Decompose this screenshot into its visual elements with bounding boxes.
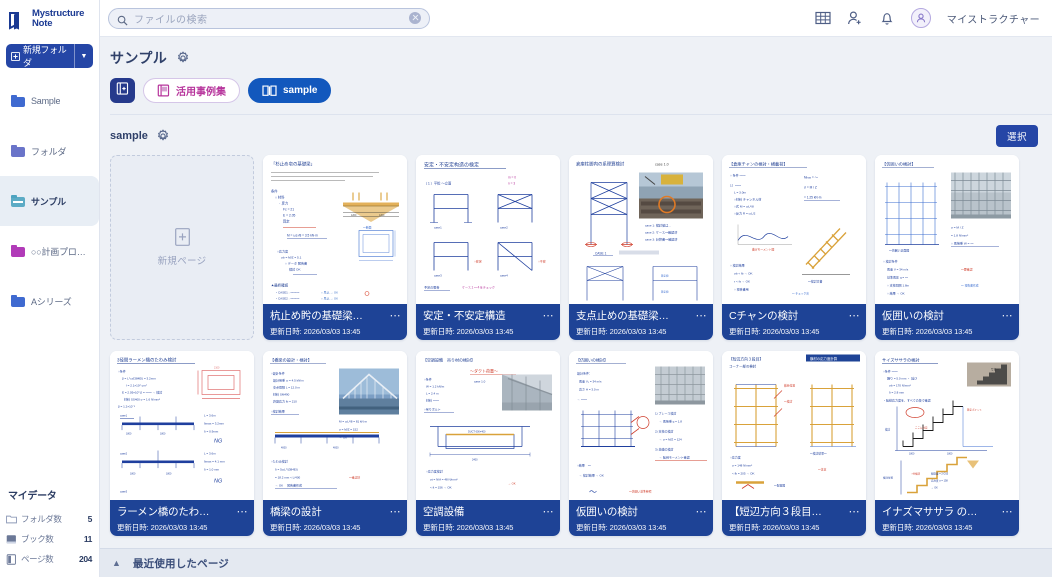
svg-text:case 1: 検討値は…: case 1: 検討値は… [645,223,671,228]
page-card-date: 更新日時: 2026/03/03 13:45 [270,326,401,337]
svg-text:【仿囲いの検討】: 【仿囲いの検討】 [576,357,608,363]
svg-text:3径間ラーメン橋のたわみ検討: 3径間ラーメン橋のたわみ検討 [117,357,177,364]
page-thumbnail: 【仿囲いの検討】 [569,351,713,500]
more-options-icon[interactable]: ⋯ [543,309,555,322]
my-data-value: 204 [79,554,94,564]
page-card[interactable]: 3径間ラーメン橋のたわみ検討 ○条件 β = L⁴ω/(384EI) = 3.2… [110,351,254,536]
svg-text:Fc = 21: Fc = 21 [283,208,294,212]
more-options-icon[interactable]: ⋯ [390,309,402,322]
page-thumbnail: 【仿囲いの検討】 [875,155,1019,304]
svg-text:○安定: ○安定 [474,259,482,264]
svg-text:○不安: ○不安 [538,259,546,264]
page-card-footer: ラーメン橋のたわ… ⋯ 更新日時: 2026/03/03 13:45 [110,500,254,536]
svg-text:○吊りボルト: ○吊りボルト [424,407,441,412]
book-logo-icon [8,10,30,32]
page-card[interactable]: 「杉止め皂の基礎梁」 条件○ 材料 ･ 彦力Fc = 21 E = 2.05算定 [263,155,407,340]
svg-text:曲げモーメント図: 曲げモーメント図 [752,248,774,252]
page-card-title: イナズマササラ の… [882,504,999,519]
sidebar-item-label: ○○計画プロジェ… [31,245,93,258]
new-page-label: 新規ページ [158,253,207,267]
page-card-title: 橋梁の設計 [270,504,387,519]
svg-text:応力度 σ = 158: 応力度 σ = 158 [931,479,948,483]
svg-text:1200: 1200 [379,214,385,217]
tab-sample[interactable]: sample [248,78,331,103]
svg-text:1800: 1800 [160,433,166,436]
svg-text:σ = M/Z = 152: σ = M/Z = 152 [339,428,358,432]
svg-text:δ = 1.0 mm: δ = 1.0 mm [204,468,220,472]
svg-text:4000: 4000 [281,447,287,450]
svg-text:β = L⁴ω/(384EI) = 3.2mm: β = L⁴ω/(384EI) = 3.2mm [122,377,156,381]
svg-text:○ 風荷重 W = ～: ○ 風荷重 W = ～ [951,241,973,246]
svg-text:L = 3.6m: L = 3.6m [204,414,216,418]
svg-text:・転勤応力度を、すべての段で確認: ・転勤応力度を、すべての段で確認 [883,398,931,403]
page-thumbnail: 倉庫柱脚内の系理算検討 case 1.0 CASE 1 [569,155,713,304]
svg-text:NG: NG [214,439,223,445]
select-button[interactable]: 選択 [996,125,1038,147]
page-card-date: 更新日時: 2026/03/03 13:45 [270,522,401,533]
page-card-date: 更新日時: 2026/03/03 13:45 [423,522,554,533]
svg-text:支点間隔 L = 12.0 m: 支点間隔 L = 12.0 m [273,385,300,390]
page-card-title: ラーメン橋のたわ… [117,504,234,519]
avatar[interactable] [911,8,931,28]
svg-text:○ データ 報告書: ○ データ 報告書 [285,261,307,266]
svg-text:case2: case2 [120,452,128,456]
page-card[interactable]: サイズササラの検討 写真～ ○条件 ～～ [875,351,1019,536]
svg-text:case4: case4 [500,274,508,278]
svg-text:σb < fb → OK: σb < fb → OK [734,272,752,276]
svg-text:β = 1.2×10⁻³: β = 1.2×10⁻³ [118,405,135,409]
more-options-icon[interactable]: ⋯ [696,505,708,518]
svg-text:～: ～ [589,488,597,497]
page-card-date: 更新日時: 2026/03/03 13:45 [576,326,707,337]
svg-text:～ダクト荷重～: ～ダクト荷重～ [470,368,498,374]
svg-text:1) ブレース検討: 1) ブレース検討 [655,411,676,416]
page-title: サンプル [110,48,167,68]
main-area: ファイルの検索 マイストラクチャー [100,0,1052,577]
sidebar-item-folder[interactable]: フォルダ [0,126,99,176]
page-thumbnail: 3径間ラーメン橋のたわみ検討 ○条件 β = L⁴ω/(384EI) = 3.2… [110,351,254,500]
svg-text:1800: 1800 [166,473,172,476]
svg-text:･ 彦力: ･ 彦力 [279,201,288,206]
page-card-footer: Cチャンの検討 ⋯ 更新日時: 2026/03/03 13:45 [722,304,866,340]
svg-text:配筋量 = 2-D13: 配筋量 = 2-D13 [931,472,949,476]
svg-text:→ OK: → OK [508,482,516,486]
svg-text:○ 見込 → OK: ○ 見込 → OK [321,290,338,295]
svg-text:～ 報告書作成: ～ 報告書作成 [961,284,979,288]
page-thumbnail: サイズササラの検討 写真～ ○条件 ～～ [875,351,1019,500]
svg-text:= 18.2 mm < L/400: = 18.2 mm < L/400 [275,476,301,480]
gear-icon[interactable] [176,51,190,65]
svg-text:載荷位置: 載荷位置 [784,384,795,388]
page-card[interactable]: 安定・不安定构造の検定 m = 0n = 3 （１）平松 ～立面 case1 [416,155,560,340]
page-card[interactable]: 【仿囲いの検討】 [569,351,713,536]
folder-icon [11,95,25,107]
svg-text:材料 SS400 σ = 1.6 N/mm²: 材料 SS400 σ = 1.6 N/mm² [124,397,160,402]
page-card-date: 更新日時: 2026/03/03 13:45 [729,522,860,533]
my-data-row-pages: ページ数 204 [6,549,94,569]
my-data-row-books: ブック数 11 [6,529,94,549]
svg-text:○材料 チャンネル材: ○材料 チャンネル材 [734,197,761,202]
svg-text:1800: 1800 [130,473,136,476]
svg-text:→ 検討結果 → OK: → 検討結果 → OK [579,473,604,478]
my-data-value: 11 [84,534,94,544]
svg-text:○応力度: ○応力度 [730,455,741,460]
book-icon [6,534,17,545]
svg-text:δ = 5ωL⁴/(384EI): δ = 5ωL⁴/(384EI) [275,468,298,472]
svg-text:1800: 1800 [126,433,132,436]
svg-text:検討 OK: 検討 OK [289,267,301,272]
svg-text:○応力度: ○応力度 [277,249,288,254]
page-card-footer: 安定・不安定構造 ⋯ 更新日時: 2026/03/03 13:45 [416,304,560,340]
section-header: サンプル 活用事例集 [100,37,1052,115]
svg-text:→ 風荷重 q = 1.8: → 風荷重 q = 1.8 [659,419,682,424]
page-card-footer: 橋梁の設計 ⋯ 更新日時: 2026/03/03 13:45 [263,500,407,536]
sidebar-item-sample-en[interactable]: Sample [0,76,99,126]
page-card-date: 更新日時: 2026/03/03 13:45 [117,522,248,533]
svg-text:～配置図: ～配置図 [774,484,785,488]
svg-text:○ 見込 → OK: ○ 見込 → OK [321,296,338,301]
svg-text:基準風圧 q = ～: 基準風圧 q = ～ [887,275,908,280]
svg-text:m = 0: m = 0 [508,176,516,180]
page-thumbnail: 【倉庫チャンの検討・横載荷】 ○ 条件 ～～ 1）～～ L = 3.0m ○材料… [722,155,866,304]
svg-text:○たわみ検討: ○たわみ検討 [271,459,288,464]
svg-text:< ft = 156 → OK: < ft = 156 → OK [430,486,452,490]
close-icon[interactable] [409,12,421,24]
plus-box-icon [11,52,20,61]
svg-text:○ 検討結果: ○ 検討結果 [730,263,745,268]
svg-text:～注意: ～注意 [818,468,827,472]
add-person-icon[interactable] [847,10,863,26]
page-card[interactable]: 【短辺方向３段目】 コーナー部の検討 横材の応力度計算 [722,351,866,536]
page-card-title: 仮囲いの検討 [882,308,999,323]
svg-text:安定・不安定构造の検定: 安定・不安定构造の検定 [424,162,479,169]
svg-text:～検討: ～検討 [784,400,793,404]
svg-text:2400: 2400 [472,459,478,462]
more-options-icon[interactable]: ⋯ [696,309,708,322]
svg-text:1800: 1800 [909,453,915,456]
svg-text:横材の応力度計算: 横材の応力度計算 [810,356,838,361]
svg-text:算定: 算定 [283,219,290,224]
page-thumbnail: 【短辺方向３段目】 コーナー部の検討 横材の応力度計算 [722,351,866,500]
svg-text:case2: case2 [500,226,508,230]
page-card-title: 空調設備 [423,504,540,519]
page-grid: 新規ページ 「杉止め皂の基礎梁」 条件○ 材料 ･ [110,155,1052,536]
my-data-title: マイデータ [6,487,94,502]
svg-text:算定ポイント: 算定ポイント [967,408,983,412]
svg-text:σb = M/Z = 5.1: σb = M/Z = 5.1 [281,256,302,260]
folder-icon [11,245,25,257]
chevron-down-icon[interactable]: ▼ [75,53,93,60]
page-card-footer: 【短辺方向３段目… ⋯ 更新日時: 2026/03/03 13:45 [722,500,866,536]
svg-text:→ OK: → OK [931,487,938,490]
svg-text:高さ H = 3.0 m: 高さ H = 3.0 m [579,387,599,392]
page-thumbnail: 【空調設備 吊り材の検討】 ～ダクト荷重～ case 1.0 [416,351,560,500]
tab-add-book[interactable] [110,78,135,103]
sidebar-item-label: Sample [31,96,60,106]
app-logo[interactable]: Mystructure Note [0,0,99,38]
svg-text:【倉庫チャンの検討・横載荷】: 【倉庫チャンの検討・横載荷】 [729,161,788,168]
svg-text:I = 2.1×10⁴ cm⁴: I = 2.1×10⁴ cm⁴ [126,384,148,388]
svg-text:★最終確認: ★最終確認 [271,283,289,288]
svg-text:ケース１～４をチェック: ケース１～４をチェック [462,285,495,290]
folder-icon [11,145,25,157]
my-data-value: 5 [88,514,94,524]
svg-text:ここに注目: ここに注目 [915,426,928,430]
svg-text:σ = 148 N/mm²: σ = 148 N/mm² [732,464,752,468]
svg-text:σt = N/A = 48 N/mm²: σt = N/A = 48 N/mm² [430,478,458,482]
page-icon [6,554,17,565]
svg-text:W = 1.2 kN/m: W = 1.2 kN/m [426,385,445,389]
page-card-date: 更新日時: 2026/03/03 13:45 [729,326,860,337]
svg-text:case3: case3 [120,490,128,494]
svg-text:～検討文書: ～検討文書 [808,279,823,284]
svg-text:○ 支柱間隔 1.8m: ○ 支柱間隔 1.8m [887,283,910,288]
svg-text:設計荷重 ω = 4.5 kN/m: 設計荷重 ω = 4.5 kN/m [273,378,304,383]
more-options-icon[interactable]: ⋯ [1002,505,1014,518]
svg-text:→ ～～: → ～～ [577,398,587,402]
svg-text:【短辺方向３段目】: 【短辺方向３段目】 [729,357,763,362]
svg-text:n = 3: n = 3 [508,182,515,186]
svg-text:○条件: ○条件 [118,369,126,374]
page-thumbnail: 【橋梁の設計・検討】 [263,351,407,500]
svg-text:「杉止め皂の基礎梁」: 「杉止め皂の基礎梁」 [271,161,315,168]
svg-text:Mmax = ～: Mmax = ～ [804,176,819,180]
svg-text:○結果 ～: ○結果 ～ [577,463,591,468]
search-field[interactable]: ファイルの検索 [108,8,430,29]
svg-text:写真～: 写真～ [991,368,999,372]
recent-pages-bar[interactable]: ▲ 最近使用したページ [100,548,1052,577]
svg-text:DUCT 600×400: DUCT 600×400 [468,431,486,434]
bell-icon[interactable] [879,10,895,26]
my-data-label: ブック数 [21,533,53,545]
svg-text:σ = M / Z: σ = M / Z [951,226,964,230]
recent-pages-label: 最近使用したページ [133,556,229,571]
svg-text:2100: 2100 [214,367,220,370]
book-icon [157,84,170,97]
svg-text:E = 2.05: E = 2.05 [283,214,296,218]
svg-text:1200: 1200 [351,214,357,217]
page-card-footer: 空調設備 ⋯ 更新日時: 2026/03/03 13:45 [416,500,560,536]
page-card-title: 杭止め盻の基礎梁… [270,308,387,323]
folder-open-icon [11,195,25,207]
svg-text:○設計条件: ○設計条件 [271,371,285,376]
more-options-icon[interactable]: ⋯ [1002,309,1014,322]
svg-text:○ 条件 ～～: ○ 条件 ～～ [730,173,745,178]
my-data-row-folders: フォルダ数 5 [6,509,94,529]
svg-text:case 3: 計算書～確認済: case 3: 計算書～確認済 [645,237,678,242]
svg-text:E = 2.05×10⁵ β = ～～ → 検討: E = 2.05×10⁵ β = ～～ → 検討 [122,390,162,395]
more-options-icon[interactable]: ⋯ [390,505,402,518]
page-card[interactable]: 倉庫柱脚内の系理算検討 case 1.0 CASE 1 [569,155,713,340]
svg-text:○ 結果 → OK: ○ 結果 → OK [887,291,905,296]
svg-text:～仿囲い基準参照: ～仿囲い基準参照 [629,490,652,494]
page-card-title: 【短辺方向３段目… [729,504,846,519]
grid-icon[interactable] [815,10,831,26]
page-card-footer: 仮囲いの検討 ⋯ 更新日時: 2026/03/03 13:45 [875,304,1019,340]
add-book-icon [116,82,129,100]
svg-text:材料 SM490: 材料 SM490 [273,392,290,397]
svg-text:～確認済: ～確認済 [349,476,360,480]
svg-text:→ OK 報告書作成: → OK 報告書作成 [275,483,302,488]
svg-text:（１）平松 ～立面: （１）平松 ～立面 [424,181,452,186]
logo-line-2: Note [32,19,84,29]
more-options-icon[interactable]: ⋯ [849,505,861,518]
svg-text:予定の報告: 予定の報告 [424,285,439,290]
book-tabs: 活用事例集 sample [110,78,1052,103]
my-data-label: ページ数 [21,553,53,565]
svg-text:1）～～: 1）～～ [730,184,741,188]
svg-text:コーナー部の検討: コーナー部の検討 [729,364,757,369]
svg-text:→ 転倒モーメント確認: → 転倒モーメント確認 [659,455,690,460]
svg-text:倉庫柱脚内の系理算検討: 倉庫柱脚内の系理算検討 [576,161,625,168]
page-card[interactable]: 【倉庫チャンの検討・横載荷】 ○ 条件 ～～ 1）～～ L = 3.0m ○材料… [722,155,866,340]
tab-usecases[interactable]: 活用事例集 [143,78,240,103]
new-folder-button[interactable]: 新規フォルダ ▼ [6,44,93,68]
svg-text:・CASE1 : ～～～: ・CASE1 : ～～～ [275,291,299,295]
tab-label: sample [283,85,317,96]
svg-text:= 1.8 N/mm²: = 1.8 N/mm² [951,234,968,238]
new-page-icon [175,228,190,246]
svg-text:L = 3.6m: L = 3.6m [204,452,216,456]
svg-text:< fb = 205 → OK: < fb = 205 → OK [732,472,755,476]
open-book-icon [262,84,277,97]
page-card-footer: 支点止めの基礎梁… ⋯ 更新日時: 2026/03/03 13:45 [569,304,713,340]
svg-text:○ 報告書用: ○ 報告書用 [734,287,749,292]
svg-text:→ σ = M/Z = 124: → σ = M/Z = 124 [659,438,682,442]
svg-text:検討位置: 検討位置 [883,476,894,480]
svg-text:～要確認: ～要確認 [961,267,973,272]
svg-text:サイズササラの検討: サイズササラの検討 [882,357,920,364]
svg-text:～ チェック済: ～ チェック済 [792,292,809,296]
sub-header: sample 選択 [100,115,1052,147]
search-icon [117,13,128,24]
svg-text:= 1.25 kN·m: = 1.25 kN·m [804,196,822,200]
svg-text:δmax = 4.1 mm: δmax = 4.1 mm [204,460,225,464]
page-card-footer: 仮囲いの検討 ⋯ 更新日時: 2026/03/03 13:45 [569,500,713,536]
svg-text:検討: 検討 [885,428,891,432]
svg-text:○式 M = ωL²/8: ○式 M = ωL²/8 [734,204,754,209]
svg-text:踊り = 5.0 mm ・ 延び: 踊り = 5.0 mm ・ 延び [887,376,917,381]
svg-text:○反力 R = ωL/2: ○反力 R = ωL/2 [734,211,756,216]
svg-text:case1: case1 [120,414,128,418]
page-thumbnail: 安定・不安定构造の検定 m = 0n = 3 （１）平松 ～立面 case1 [416,155,560,304]
svg-text:case3: case3 [434,274,442,278]
svg-text:δ = 0.9mm: δ = 0.9mm [204,430,219,434]
page-card[interactable]: 【橋梁の設計・検討】 [263,351,407,536]
sidebar-item-label: Aシリーズ [31,295,72,308]
folder-icon [11,295,25,307]
folder-outline-icon [6,514,17,525]
svg-text:δ = 2.8 mm: δ = 2.8 mm [889,391,905,395]
more-options-icon[interactable]: ⋯ [849,309,861,322]
sidebar-item-a-series[interactable]: Aシリーズ [0,276,99,326]
svg-text:1800: 1800 [947,453,953,456]
app-root: Mystructure Note 新規フォルダ ▼ Sample フォルダ [0,0,1052,577]
svg-text:L = 3.0m: L = 3.0m [734,191,746,195]
svg-text:～仿囲い正面図: ～仿囲い正面図 [889,248,909,253]
svg-text:風速 V₀ = 34 m/s: 風速 V₀ = 34 m/s [579,379,602,384]
svg-text:case1: case1 [434,226,442,230]
sidebar-item-project[interactable]: ○○計画プロジェ… [0,226,99,276]
page-card-date: 更新日時: 2026/03/03 13:45 [423,326,554,337]
page-grid-wrapper: 新規ページ 「杉止め皂の基礎梁」 条件○ 材料 ･ [100,147,1052,577]
new-folder-label: 新規フォルダ [23,44,74,68]
svg-text:2) 支柱の検討: 2) 支柱の検討 [655,429,674,434]
svg-text:case 2: ケース～確認済: case 2: ケース～確認済 [645,230,677,235]
search-input[interactable]: ファイルの検索 [134,11,403,26]
page-card-title: 安定・不安定構造 [423,308,540,323]
page-card-date: 更新日時: 2026/03/03 13:45 [576,522,707,533]
svg-text:算定値: 算定値 [661,274,669,278]
svg-text:○ 材料: ○ 材料 [275,195,285,200]
page-card-title: 仮囲いの検討 [576,504,693,519]
svg-text:～断面: ～断面 [363,226,372,230]
svg-text:○ 検討条件: ○ 検討条件 [883,259,898,264]
svg-text:○付根部: ○付根部 [911,472,921,476]
svg-text:σb = 170 N/mm²: σb = 170 N/mm² [889,384,911,388]
page-card-title: Cチャンの検討 [729,308,846,323]
svg-text:case 1.0: case 1.0 [655,163,669,167]
svg-text:【仿囲いの検討】: 【仿囲いの検討】 [882,161,916,168]
my-data-label: フォルダ数 [21,513,62,525]
more-options-icon[interactable]: ⋯ [237,505,249,518]
svg-text:L = 2.4 m: L = 2.4 m [426,392,439,396]
page-card-date: 更新日時: 2026/03/03 13:45 [882,326,1013,337]
svg-text:設計条件：: 設計条件： [577,371,592,376]
sidebar-folder-list: Sample フォルダ サンプル ○○計画プロジェ… Aシリーズ [0,76,99,326]
svg-text:・CASE2 : ～～～: ・CASE2 : ～～～ [275,297,299,301]
page-card-title: 支点止めの基礎梁… [576,308,693,323]
svg-text:4000: 4000 [333,447,339,450]
page-card-date: 更新日時: 2026/03/03 13:45 [882,522,1013,533]
page-thumbnail: 「杉止め皂の基礎梁」 条件○ 材料 ･ 彦力Fc = 21 E = 2.05算定 [263,155,407,304]
svg-text:3) 基礎の検討: 3) 基礎の検討 [655,447,674,452]
page-card-footer: イナズマササラ の… ⋯ 更新日時: 2026/03/03 13:45 [875,500,1019,536]
page-card[interactable]: 【空調設備 吊り材の検討】 ～ダクト荷重～ case 1.0 [416,351,560,536]
svg-text:【橋梁の設計・検討】: 【橋梁の設計・検討】 [270,357,312,364]
sidebar: Mystructure Note 新規フォルダ ▼ Sample フォルダ [0,0,100,577]
svg-text:～検討結果～: ～検討結果～ [810,452,827,456]
top-bar: ファイルの検索 マイストラクチャー [100,0,1052,37]
username-label: マイストラクチャー [947,11,1040,26]
page-card-footer: 杭止め盻の基礎梁… ⋯ 更新日時: 2026/03/03 13:45 [263,304,407,340]
svg-text:許容応力 fb = 210: 許容応力 fb = 210 [273,399,297,404]
chevron-up-icon[interactable]: ▲ [112,558,121,568]
svg-text:σ = M / Z: σ = M / Z [804,186,817,190]
svg-text:τ < fs → OK: τ < fs → OK [734,280,750,284]
svg-text:材料 ～～: 材料 ～～ [426,398,439,403]
svg-text:NG: NG [214,479,223,485]
my-data-panel: マイデータ フォルダ数 5 ブック数 11 ページ数 [0,487,100,569]
svg-text:○条件 ～～: ○条件 ～～ [883,369,898,374]
new-page-card[interactable]: 新規ページ [110,155,254,340]
svg-text:case 1.0: case 1.0 [474,380,486,384]
top-bar-actions: マイストラクチャー [815,8,1040,28]
svg-text:M = ωL²/8 = 81 kN·m: M = ωL²/8 = 81 kN·m [339,420,368,424]
more-options-icon[interactable]: ⋯ [543,505,555,518]
svg-text:δmax = 3.2mm: δmax = 3.2mm [204,422,224,426]
svg-text:○応力度検討: ○応力度検討 [426,469,443,474]
page-card[interactable]: 【仿囲いの検討】 [875,155,1019,340]
sub-title: sample [110,130,148,142]
svg-text:風速 V = 34 m/s: 風速 V = 34 m/s [887,267,909,272]
svg-text:算定値: 算定値 [661,290,669,294]
svg-text:条件: 条件 [271,189,278,194]
gear-icon[interactable] [156,129,170,143]
sidebar-item-sample-jp[interactable]: サンプル [0,176,99,226]
svg-text:○検討結果: ○検討結果 [271,409,285,414]
svg-text:【空調設備 吊り材の検討】: 【空調設備 吊り材の検討】 [423,357,475,363]
